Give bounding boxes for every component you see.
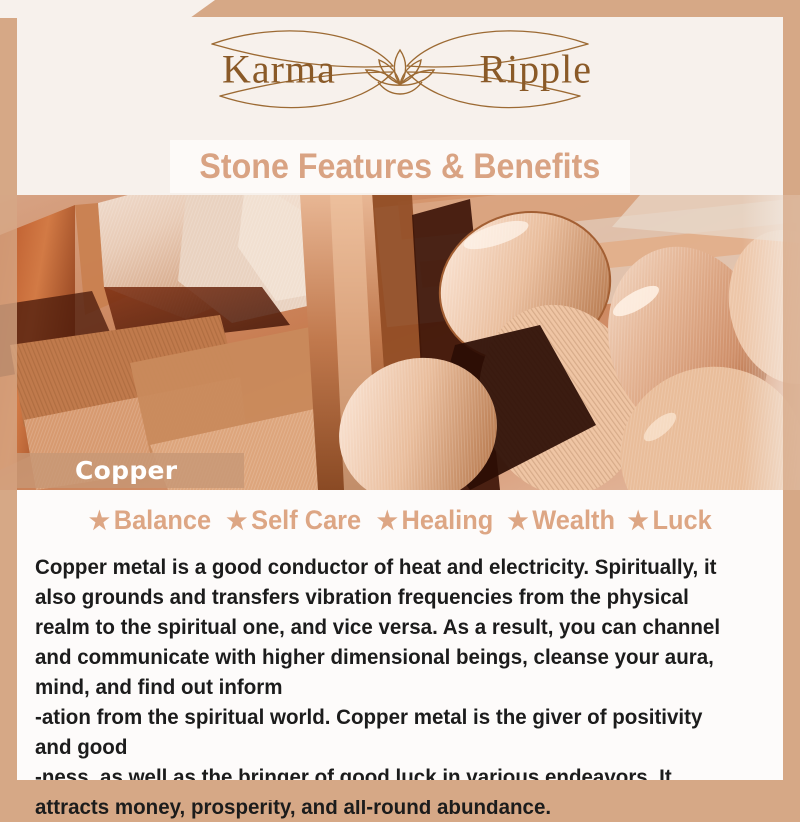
page-title: Stone Features & Benefits	[200, 147, 601, 187]
star-icon: ★	[89, 506, 110, 536]
content-card: ★Balance★Self Care★Healing★Wealth★Luck C…	[17, 490, 783, 780]
feature-item: ★Wealth	[507, 505, 615, 536]
photo-artwork	[0, 195, 800, 490]
feature-item: ★Luck	[628, 505, 712, 536]
feature-label: Self Care	[251, 505, 361, 536]
brand-name-left: Karma	[222, 45, 336, 92]
star-icon: ★	[628, 506, 649, 536]
feature-item: ★Balance	[89, 505, 211, 536]
brand-logo: Karma Ripple	[17, 17, 783, 122]
feature-item: ★Self Care	[227, 505, 362, 536]
feature-label: Luck	[653, 505, 712, 536]
feature-label: Healing	[401, 505, 493, 536]
feature-label: Wealth	[532, 505, 615, 536]
feature-list: ★Balance★Self Care★Healing★Wealth★Luck	[17, 505, 783, 536]
feature-label: Balance	[114, 505, 211, 536]
star-icon: ★	[377, 506, 398, 536]
infographic-page: Karma Ripple Stone Features & Benefits	[0, 0, 800, 800]
photo-right-frame	[783, 195, 800, 490]
section-title-banner: Stone Features & Benefits	[170, 140, 630, 193]
feature-item: ★Healing	[377, 505, 494, 536]
copper-rods-photo	[0, 195, 800, 490]
stone-name-label: Copper	[75, 456, 177, 485]
photo-left-frame	[0, 195, 17, 490]
star-icon: ★	[227, 506, 248, 536]
bottom-frame	[17, 780, 783, 800]
stone-name-tag: Copper	[17, 453, 244, 488]
star-icon: ★	[507, 506, 528, 536]
brand-name-right: Ripple	[479, 45, 592, 92]
